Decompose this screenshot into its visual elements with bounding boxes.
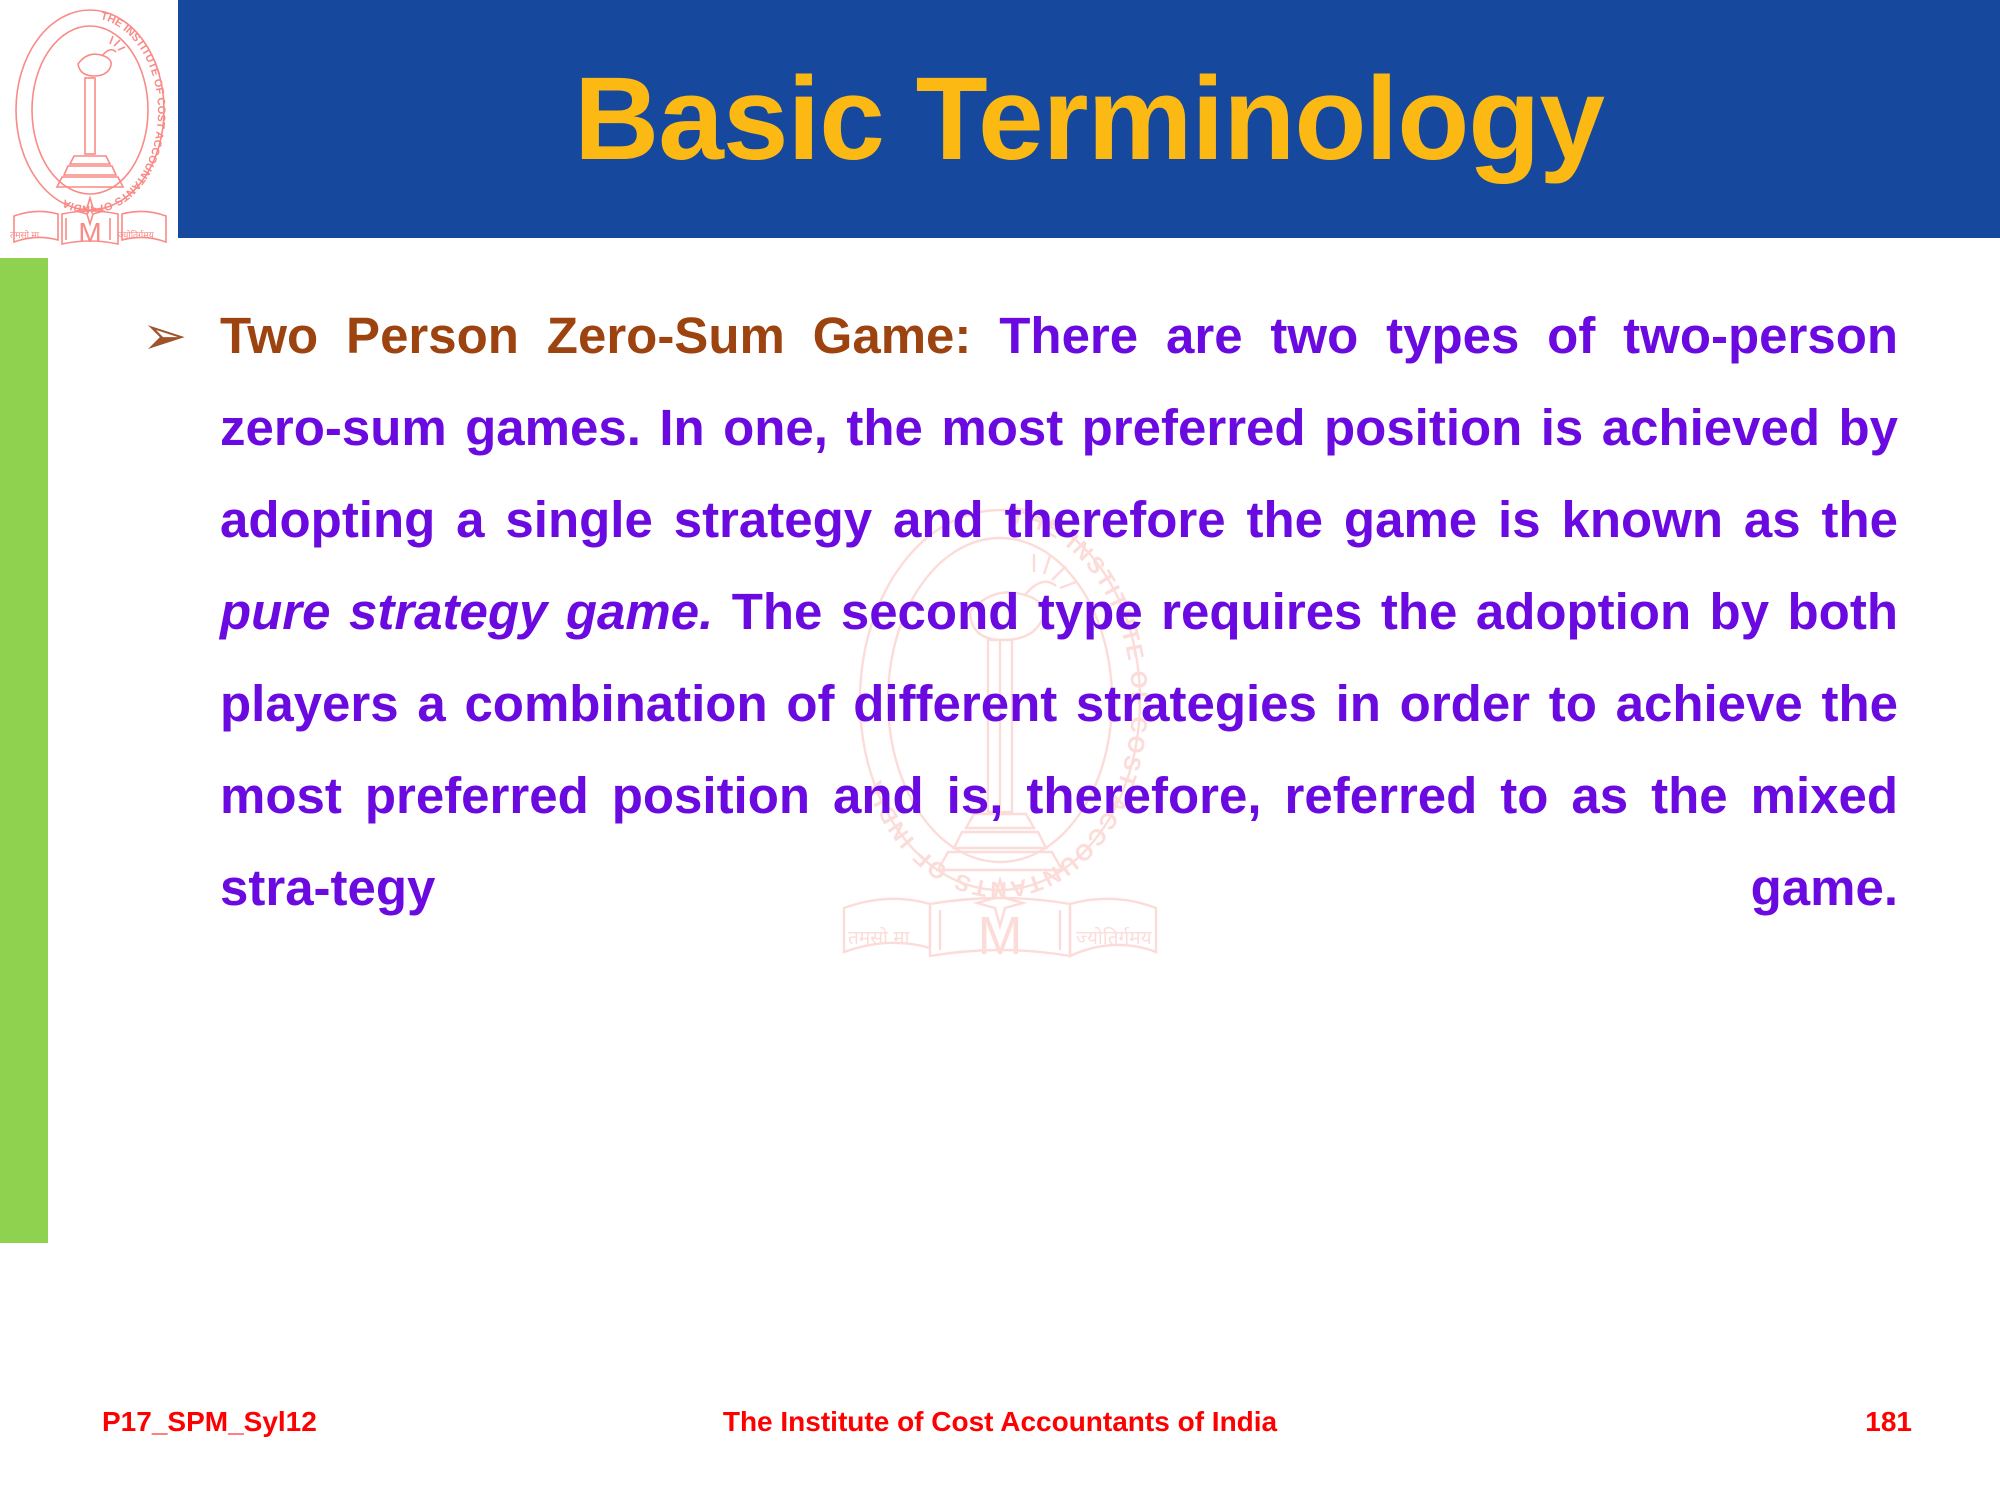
svg-text:M: M	[78, 217, 101, 248]
slide-canvas: M तमसो मा ज्योतिर्गमय THE INSTITUTE OF C…	[0, 0, 2000, 1500]
bullet-paragraph: Two Person Zero-Sum Game: There are two …	[220, 290, 1898, 1026]
bullet-segment-1: pure strategy game.	[220, 583, 713, 640]
page-title: Basic Terminology	[178, 24, 2000, 214]
footer: P17_SPM_Syl12 The Institute of Cost Acco…	[0, 1406, 2000, 1456]
svg-text:THE INSTITUTE OF COST ACCOUNTA: THE INSTITUTE OF COST ACCOUNTANTS OF IND…	[60, 10, 167, 215]
footer-page-number: 181	[1865, 1406, 1912, 1438]
left-accent-bar	[0, 258, 48, 1243]
list-item: ➢ Two Person Zero-Sum Game: There are tw…	[128, 290, 1898, 1026]
institute-logo-icon: M तमसो मा ज्योतिर्गमय THE INSTITUTE OF C…	[6, 2, 174, 250]
svg-text:तमसो मा: तमसो मा	[10, 229, 40, 240]
footer-institute-name: The Institute of Cost Accountants of Ind…	[0, 1406, 2000, 1438]
arrow-bullet-icon: ➢	[128, 290, 220, 382]
svg-text:ज्योतिर्गमय: ज्योतिर्गमय	[118, 229, 155, 240]
slide-body: ➢ Two Person Zero-Sum Game: There are tw…	[128, 290, 1898, 1026]
term-label: Two Person Zero-Sum Game:	[220, 307, 971, 364]
